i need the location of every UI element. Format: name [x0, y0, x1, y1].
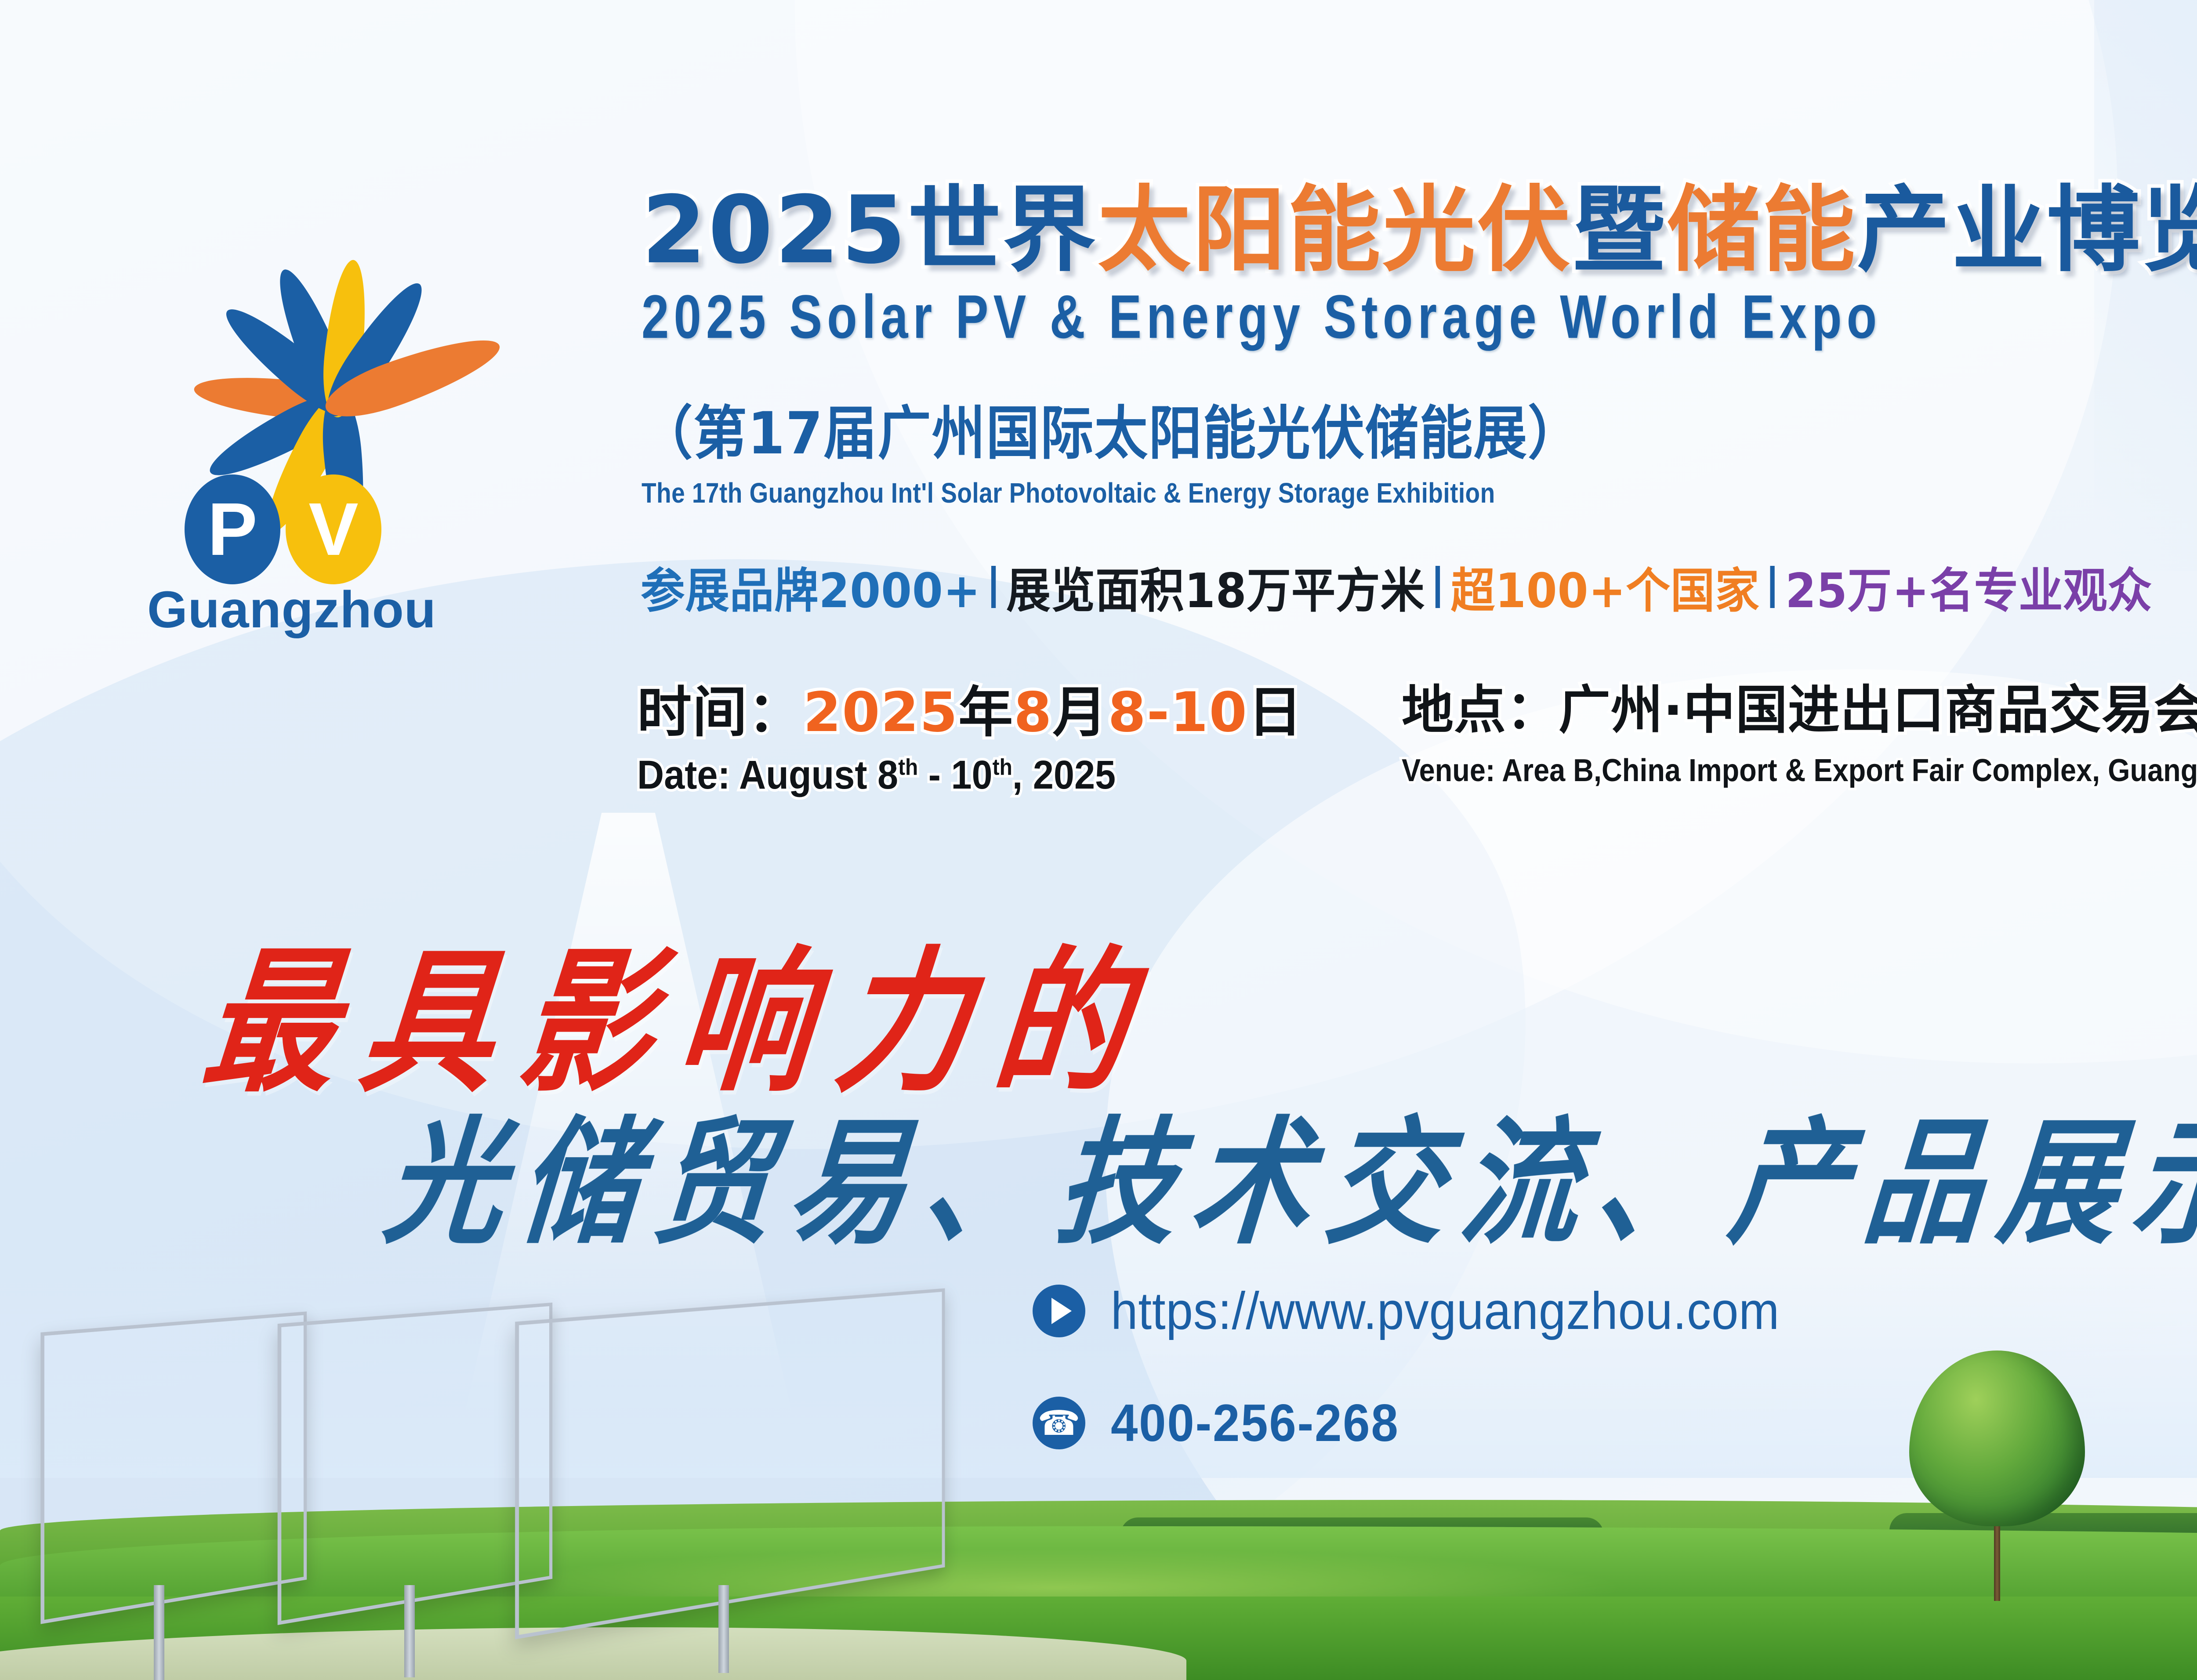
headline-segment-1: 2025世界 — [642, 176, 1098, 284]
date-day-unit: 日 — [1248, 681, 1303, 744]
stat-brands: 参展品牌2000+ — [641, 553, 981, 621]
subtitle-chinese: （第17届广州国际太阳能光伏储能展） — [639, 387, 1582, 471]
date-en-ordinal-1: th — [898, 754, 918, 780]
solar-panel-array — [9, 1315, 1019, 1654]
date-year-unit: 年 — [958, 681, 1014, 744]
play-circle-icon — [1033, 1285, 1085, 1337]
date-month-unit: 月 — [1052, 681, 1108, 744]
solar-panel — [44, 1322, 316, 1601]
expo-banner: P V Guangzhou 2025世界太阳能光伏暨储能产业博览会 2025 S… — [0, 0, 2197, 1680]
venue-chinese: 地点：广州·中国进出口商品交易会展馆B区 — [1402, 668, 2197, 743]
stat-separator — [991, 566, 996, 608]
tree-cluster-left — [1903, 1372, 2092, 1601]
date-label: 时间： — [637, 681, 803, 744]
stat-countries: 超100+个国家 — [1451, 553, 1760, 621]
headline-segment-4: 储能 — [1667, 176, 1857, 284]
date-month: 8 — [1014, 681, 1052, 744]
slogan-line-2: 光储贸易、技术交流、产品展示平台! — [378, 1072, 2197, 1270]
date-en-mid: - 10 — [918, 753, 992, 797]
venue-english: Venue: Area B,China Import & Export Fair… — [1402, 753, 2197, 789]
venue-value: 广州·中国进出口商品交易会展馆B区 — [1559, 680, 2197, 740]
date-block: 时间：2025年8月8-10日 Date: August 8th - 10th,… — [637, 668, 1303, 798]
date-english: Date: August 8th - 10th, 2025 — [637, 752, 1250, 798]
date-year: 2025 — [803, 681, 958, 744]
stat-visitors: 25万+名专业观众 — [1785, 553, 2152, 621]
phone-circle-icon: ☎ — [1033, 1397, 1085, 1449]
date-en-suffix: , 2025 — [1012, 753, 1116, 797]
date-en-prefix: Date: August — [637, 753, 877, 797]
date-chinese: 时间：2025年8月8-10日 — [637, 668, 1303, 747]
logo-letter-p: P — [185, 474, 280, 584]
stat-separator — [1436, 566, 1440, 608]
date-days: 8-10 — [1108, 681, 1247, 744]
logo-city-label: Guangzhou — [147, 580, 543, 640]
headline-segment-5: 产业博览会 — [1857, 176, 2197, 284]
pv-monogram: P V — [185, 474, 431, 584]
headline-segment-3: 暨 — [1572, 176, 1667, 284]
date-en-ordinal-2: th — [993, 754, 1012, 780]
venue-label: 地点： — [1402, 680, 1559, 740]
website-url[interactable]: https://www.pvguangzhou.com — [1111, 1281, 1780, 1341]
logo-letter-v: V — [286, 474, 381, 584]
solar-panel — [525, 1304, 964, 1601]
phone-contact[interactable]: ☎ 400-256-268 — [1033, 1393, 1425, 1453]
pv-guangzhou-logo[interactable]: P V Guangzhou — [53, 171, 624, 637]
date-en-day1: 8 — [877, 753, 898, 797]
page-title: 2025世界太阳能光伏暨储能产业博览会 — [642, 155, 2197, 290]
phone-number[interactable]: 400-256-268 — [1111, 1393, 1399, 1453]
stat-area: 展览面积18万平方米 — [1006, 553, 1425, 621]
headline-segment-2: 太阳能光伏 — [1098, 176, 1572, 284]
statistics-row: 参展品牌2000+ 展览面积18万平方米 超100+个国家 25万+名专业观众 — [641, 553, 2152, 621]
website-link[interactable]: https://www.pvguangzhou.com — [1033, 1281, 1838, 1341]
subtitle-english-secondary: The 17th Guangzhou Int'l Solar Photovolt… — [642, 477, 1495, 509]
venue-block: 地点：广州·中国进出口商品交易会展馆B区 Venue: Area B,China… — [1402, 668, 2197, 789]
subtitle-english: 2025 Solar PV & Energy Storage World Exp… — [642, 281, 1882, 352]
stat-separator — [1770, 566, 1775, 608]
